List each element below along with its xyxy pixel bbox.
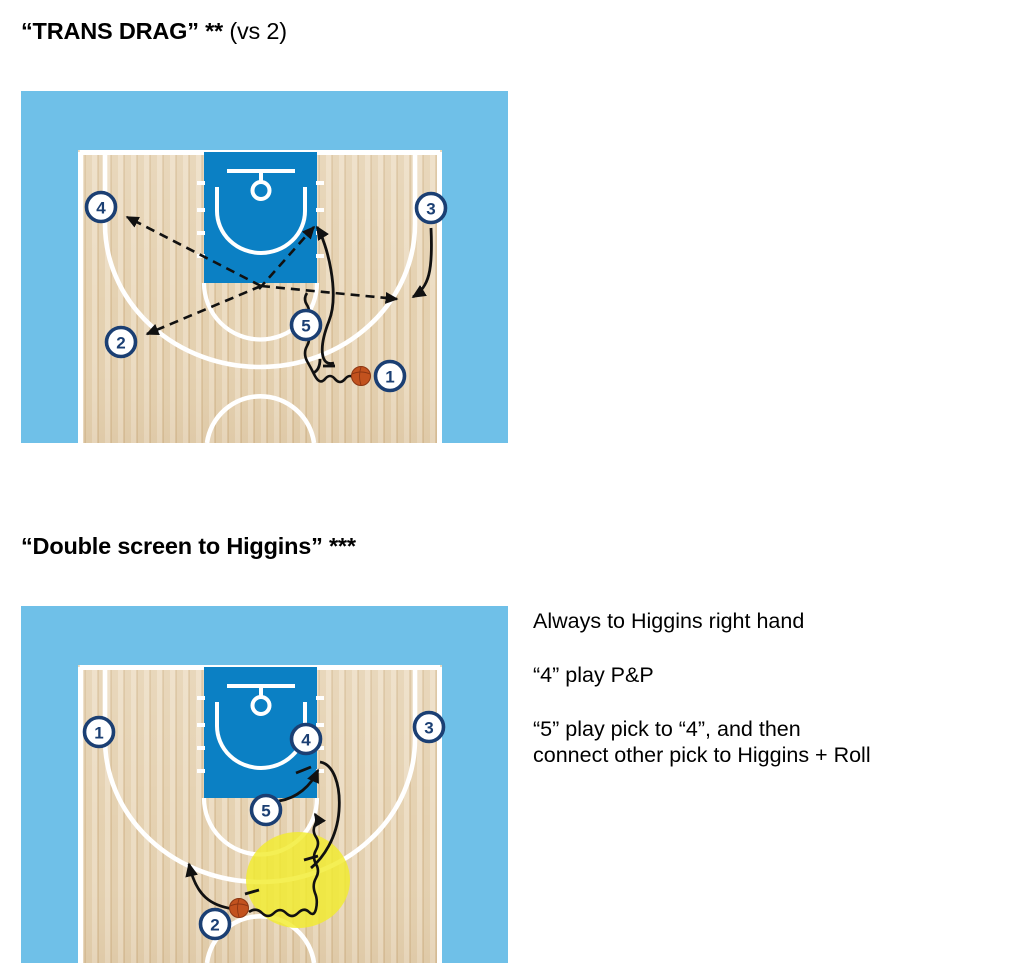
note-line-1: Always to Higgins right hand: [533, 608, 1015, 634]
player-marker-3[interactable]: 3: [417, 194, 446, 223]
play-2-title-main: “Double screen to Higgins” ***: [21, 533, 356, 559]
note-line-2: “4” play P&P: [533, 662, 1015, 688]
court-svg-1: 4 2 5 3 1: [21, 91, 508, 443]
play-1-title-main: “TRANS DRAG” **: [21, 18, 223, 44]
svg-text:3: 3: [424, 719, 433, 738]
svg-text:5: 5: [301, 317, 310, 336]
basketball-1: [352, 367, 371, 386]
play-2-court-diagram: 1 3 4 5 2: [21, 606, 508, 963]
play-2-title: “Double screen to Higgins” ***: [21, 533, 356, 560]
svg-text:5: 5: [261, 802, 270, 821]
play-1-court-diagram: 4 2 5 3 1: [21, 91, 508, 443]
coaching-notes: Always to Higgins right hand “4” play P&…: [533, 608, 1015, 768]
svg-text:1: 1: [385, 368, 394, 387]
player-marker-3[interactable]: 3: [415, 713, 444, 742]
svg-text:2: 2: [210, 916, 219, 935]
note-line-3: “5” play pick to “4”, and then connect o…: [533, 716, 1015, 768]
svg-text:2: 2: [116, 334, 125, 353]
play-1-title-suffix: (vs 2): [223, 18, 287, 44]
svg-text:3: 3: [426, 200, 435, 219]
player-marker-5[interactable]: 5: [252, 796, 281, 825]
play-1-title: “TRANS DRAG” ** (vs 2): [21, 18, 287, 45]
court-svg-2: 1 3 4 5 2: [21, 606, 508, 963]
player-marker-2[interactable]: 2: [201, 910, 230, 939]
svg-text:4: 4: [301, 731, 311, 750]
basketball-2: [230, 899, 249, 918]
player-marker-1[interactable]: 1: [376, 362, 405, 391]
player-marker-4[interactable]: 4: [87, 193, 116, 222]
player-marker-1[interactable]: 1: [85, 718, 114, 747]
player-marker-5[interactable]: 5: [292, 311, 321, 340]
svg-text:4: 4: [96, 199, 106, 218]
player-marker-2[interactable]: 2: [107, 328, 136, 357]
svg-text:1: 1: [94, 724, 103, 743]
player-marker-4[interactable]: 4: [292, 725, 321, 754]
